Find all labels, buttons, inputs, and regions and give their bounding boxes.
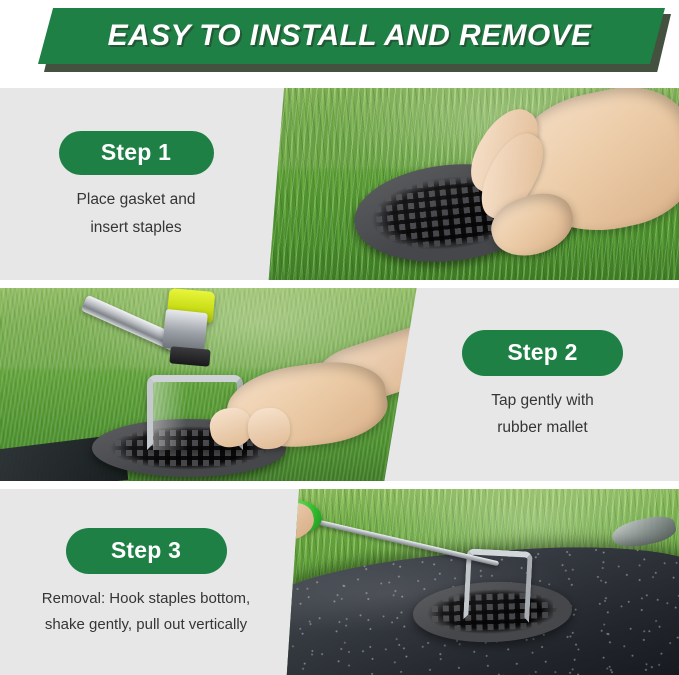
step-row-1: Step 1 Place gasket and insert staples	[0, 88, 679, 280]
step-row-2: Step 2 Tap gently with rubber mallet	[0, 288, 679, 481]
step-3-description: Removal: Hook staples bottom, shake gent…	[42, 586, 250, 639]
mallet-tip	[169, 346, 210, 367]
step-2-photo	[0, 288, 420, 481]
step-1-description: Place gasket and insert staples	[77, 186, 196, 240]
step-2-description: Tap gently with rubber mallet	[491, 387, 594, 441]
step-3-badge: Step 3	[66, 528, 227, 574]
step-1-text-pane: Step 1 Place gasket and insert staples	[0, 88, 272, 280]
product-infographic: EASY TO INSTALL AND REMOVE Step 1 Place …	[0, 0, 679, 675]
banner-plate: EASY TO INSTALL AND REMOVE	[38, 8, 665, 64]
step-1-photo	[262, 88, 679, 280]
hand-finger	[246, 406, 291, 449]
header-banner: EASY TO INSTALL AND REMOVE	[0, 0, 679, 80]
step-2-badge: Step 2	[462, 330, 623, 376]
step-row-3: Step 3 Removal: Hook staples bottom, sha…	[0, 489, 679, 675]
step-1-badge: Step 1	[59, 131, 214, 175]
mallet-collar	[162, 309, 208, 352]
step-3-photo	[282, 489, 679, 675]
step-3-text-pane: Step 3 Removal: Hook staples bottom, sha…	[0, 489, 292, 675]
step-2-text-pane: Step 2 Tap gently with rubber mallet	[406, 288, 679, 481]
page-title: EASY TO INSTALL AND REMOVE	[108, 19, 592, 53]
